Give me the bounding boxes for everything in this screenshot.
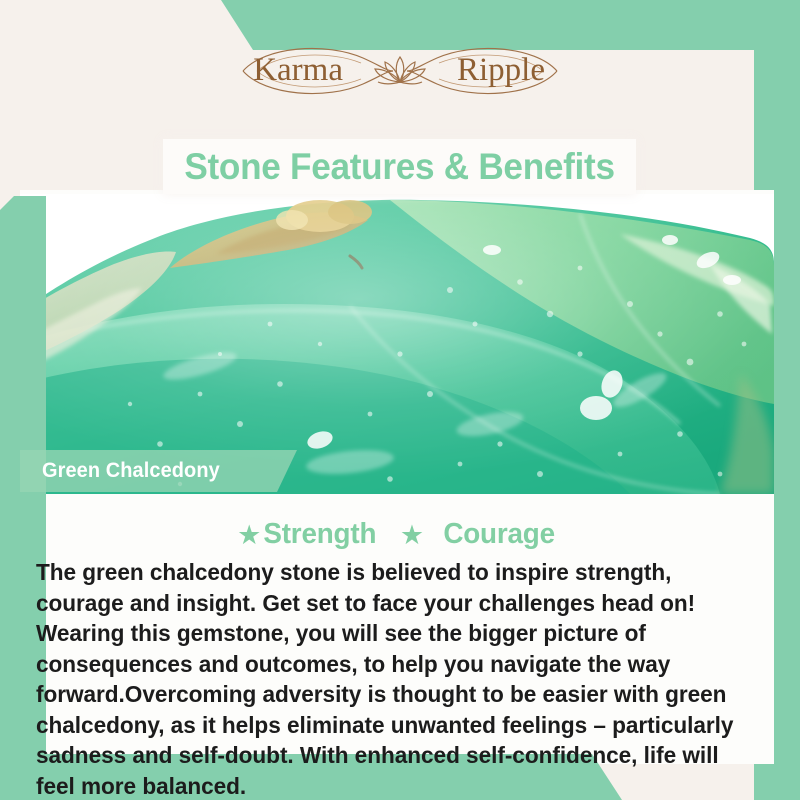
star-icon-strength: ★ — [237, 520, 261, 551]
brand-logo: Karma Ripple — [235, 38, 565, 104]
stone-photo — [20, 194, 774, 494]
keyword-courage: Courage — [443, 518, 555, 551]
header: Karma Ripple — [0, 0, 800, 130]
keyword-strength: Strength — [264, 518, 377, 551]
brand-word-left: Karma — [253, 52, 343, 88]
star-icon-courage: ★ — [400, 520, 424, 551]
page-title: Stone Features & Benefits — [184, 146, 614, 188]
title-banner: Stone Features & Benefits — [163, 139, 636, 194]
stone-caption: Green Chalcedony — [20, 450, 297, 492]
brand-word-right: Ripple — [457, 52, 545, 88]
description-text: The green chalcedony stone is believed t… — [36, 557, 759, 800]
stone-benefits-card: Karma Ripple — [0, 0, 800, 800]
brand-wordmark: Karma Ripple — [235, 38, 565, 104]
green-chalcedony-image — [20, 194, 774, 494]
stone-caption-label: Green Chalcedony — [42, 459, 220, 483]
keyword-row: ★Strength ★ Courage — [20, 518, 774, 551]
